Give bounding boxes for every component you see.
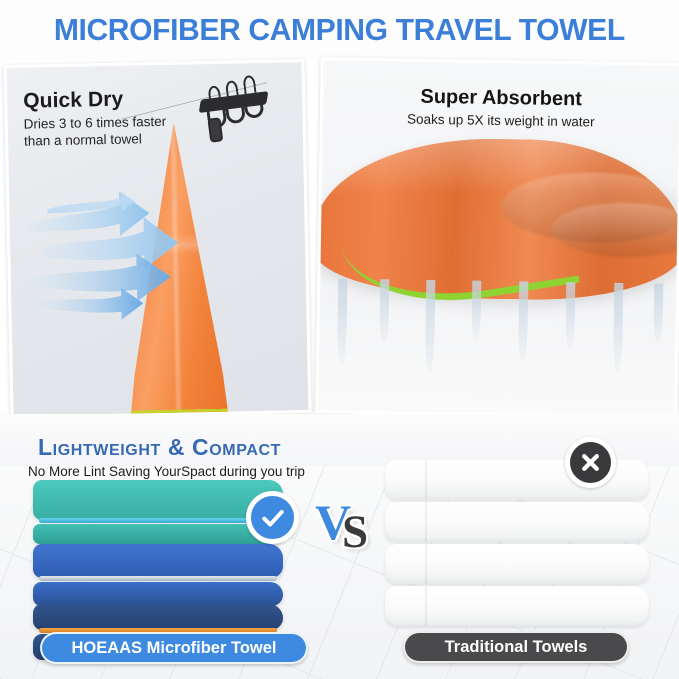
water-drip (337, 278, 347, 364)
hook-curve (225, 102, 246, 124)
towel-layer (385, 544, 649, 584)
hook-peg (242, 75, 256, 94)
panel-quick-dry: Quick Dry Dries 3 to 6 times faster than… (3, 59, 311, 419)
water-drip (425, 280, 435, 372)
wall-hook-icon (188, 64, 281, 134)
quick-dry-subtext: Dries 3 to 6 times faster than a normal … (23, 113, 166, 150)
quick-dry-subtext-line1: Dries 3 to 6 times faster (23, 113, 166, 133)
hook-curve (243, 97, 264, 119)
towel-layer (33, 524, 283, 544)
towel-layer (385, 586, 649, 626)
versus-s: S (342, 503, 366, 561)
panel-super-absorbent: Super Absorbent Soaks up 5X its weight i… (315, 57, 679, 419)
hook-peg (207, 85, 221, 104)
towel-trim (39, 576, 277, 581)
page-title: MICROFIBER CAMPING TRAVEL TOWEL (54, 12, 625, 48)
water-drip (518, 281, 528, 361)
towel-layer (33, 604, 283, 630)
lightweight-heading: Lightweight & Compact (38, 434, 281, 461)
super-absorbent-subtext: Soaks up 5X its weight in water (323, 110, 679, 131)
airflow-arrows-icon (23, 184, 211, 343)
lightweight-subtext: No More Lint Saving YourSpact during you… (28, 464, 305, 479)
label-traditional-towels: Traditional Towels (403, 631, 629, 663)
towel-trim (39, 518, 277, 523)
title-bar: MICROFIBER CAMPING TRAVEL TOWEL (0, 0, 679, 60)
x-circle-icon (565, 437, 616, 488)
quick-dry-subtext-line2: than a normal towel (24, 130, 167, 150)
label-hoeaas-text: HOEAAS Microfiber Towel (71, 639, 276, 658)
towel-layer (33, 582, 283, 606)
label-traditional-text: Traditional Towels (445, 638, 588, 657)
traditional-towel-stack-image (385, 460, 661, 632)
water-drip (379, 279, 389, 343)
hook-peg (225, 80, 239, 99)
water-drip (471, 281, 481, 339)
label-hoeaas-microfiber-towel: HOEAAS Microfiber Towel (40, 632, 308, 664)
water-drip (565, 282, 575, 348)
quick-dry-heading: Quick Dry (23, 88, 124, 114)
check-circle-icon (246, 491, 299, 544)
towel-layer (33, 544, 283, 578)
water-drip (653, 283, 663, 343)
towel-layer (385, 502, 649, 542)
super-absorbent-heading: Super Absorbent (323, 84, 679, 113)
water-drip (613, 283, 623, 371)
carabiner-clip-icon (207, 117, 223, 142)
versus-badge: V S (315, 497, 377, 559)
water-drips-group (315, 278, 679, 394)
infographic-canvas: MICROFIBER CAMPING TRAVEL TOWEL Quick Dr… (0, 0, 679, 679)
